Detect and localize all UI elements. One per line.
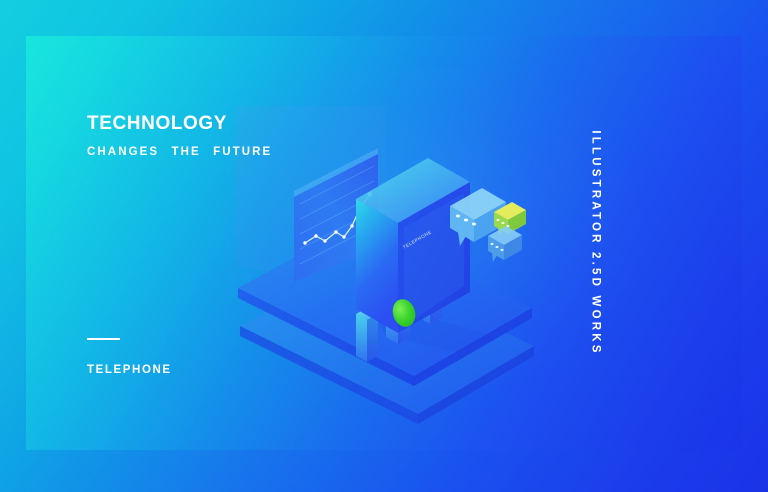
caption-label: TELEPHONE (87, 365, 172, 377)
poster-canvas: TELEPHONE (0, 0, 768, 492)
page-title: TECHNOLOGY (87, 114, 272, 133)
caption-block: TELEPHONE (87, 338, 172, 377)
poster-card: TELEPHONE (26, 36, 742, 450)
headline-block: TECHNOLOGY CHANGES THE FUTURE (87, 114, 272, 159)
chat-bubble-small (488, 226, 522, 262)
side-label: ILLUSTRATOR 2.5D WORKS (589, 130, 601, 355)
divider (87, 338, 120, 340)
isometric-illustration: TELEPHONE (26, 36, 742, 450)
page-subtitle: CHANGES THE FUTURE (87, 147, 272, 159)
